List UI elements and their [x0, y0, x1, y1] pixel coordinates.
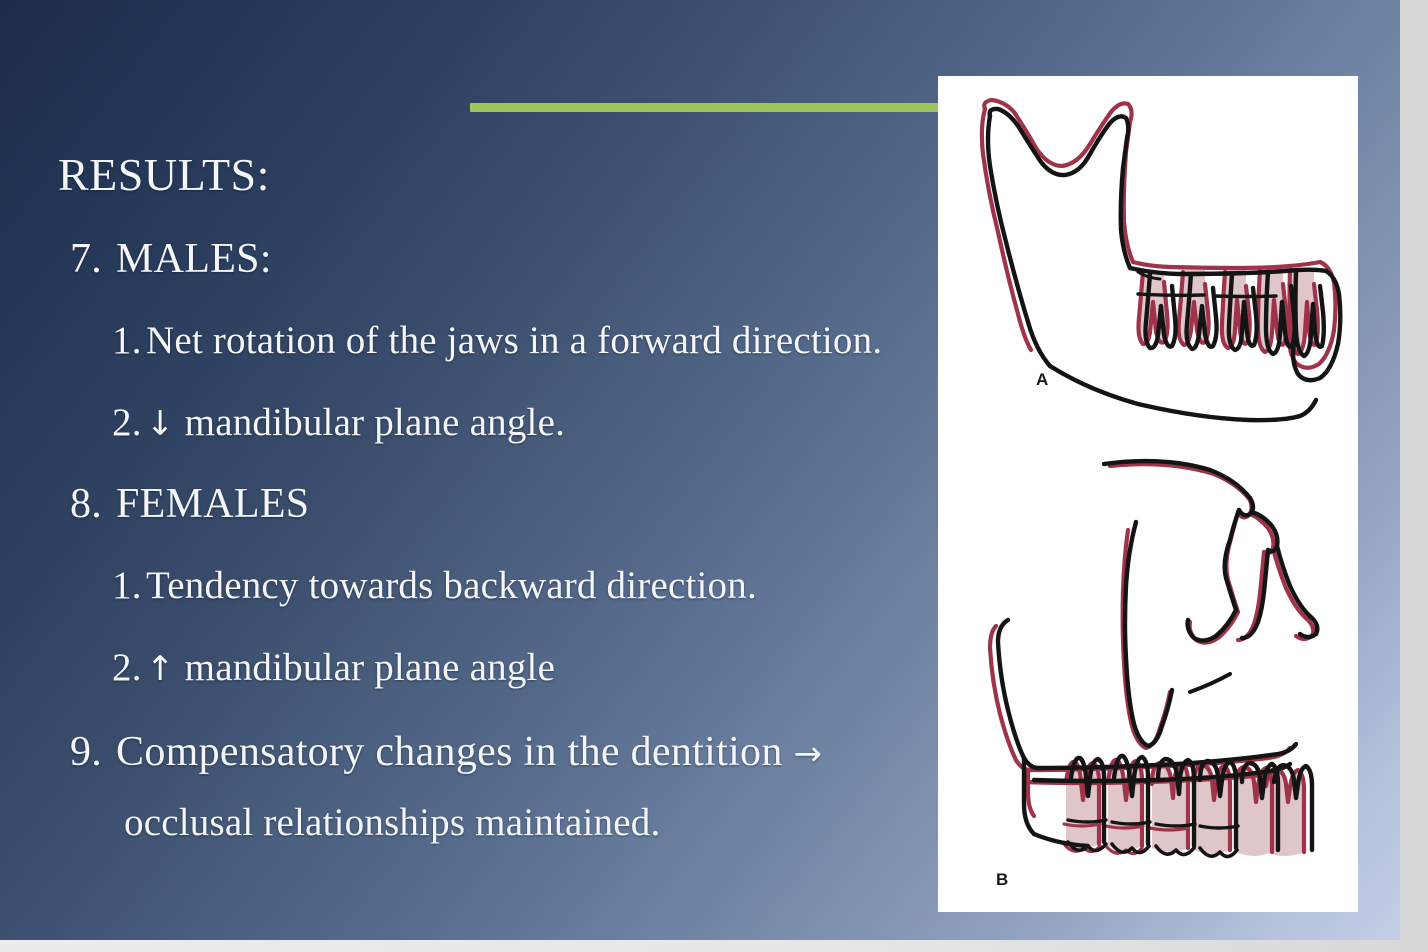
mandible-tracing-svg	[938, 82, 1358, 452]
title-block: FACIAL GROWTH IN ADULTS	[0, 0, 1400, 10]
figure-b-maxilla-tracing: B	[938, 452, 1358, 907]
list-item-label: mandibular plane angle.	[185, 401, 565, 444]
arrow-down-icon: ↓	[146, 404, 175, 444]
list-item-label: FEMALES	[116, 481, 309, 527]
list-item-females-sub-2: 2.↑ mandibular plane angle	[112, 645, 555, 690]
figure-label-a: A	[1036, 370, 1048, 390]
figure-panel: A	[938, 76, 1358, 912]
list-number: 9.	[70, 728, 116, 776]
list-item-label: Compensatory changes in the dentition	[116, 729, 783, 775]
list-number: 2.	[112, 400, 146, 445]
list-number: 2.	[112, 645, 146, 690]
list-item-males-sub-1: 1.Net rotation of the jaws in a forward …	[112, 318, 882, 363]
figure-label-b: B	[996, 870, 1008, 890]
list-number: 8.	[70, 480, 116, 528]
list-item-compensatory: 9.Compensatory changes in the dentition …	[70, 728, 822, 776]
maxilla-tracing-svg	[938, 452, 1358, 907]
page-title: FACIAL GROWTH IN ADULTS	[0, 0, 1400, 10]
list-number: 1.	[112, 318, 146, 363]
list-item-label: mandibular plane angle	[185, 646, 555, 689]
title-accent-rule	[470, 103, 1008, 112]
list-item-females: 8.FEMALES	[70, 480, 309, 528]
list-item-label: Net rotation of the jaws in a forward di…	[146, 319, 882, 362]
list-item-males-sub-2: 2.↓ mandibular plane angle.	[112, 400, 565, 445]
presentation-slide: FACIAL GROWTH IN ADULTS RESULTS: 7.MALES…	[0, 0, 1400, 940]
list-item-compensatory-continuation: occlusal relationships maintained.	[124, 800, 660, 845]
list-number: 1.	[112, 563, 146, 608]
list-item-males: 7.MALES:	[70, 235, 272, 283]
list-item-label: MALES:	[116, 236, 272, 282]
list-item-label: Tendency towards backward direction.	[146, 564, 757, 607]
arrow-up-icon: ↑	[146, 649, 175, 689]
slide-page: FACIAL GROWTH IN ADULTS RESULTS: 7.MALES…	[0, 0, 1428, 952]
figure-a-mandible-tracing: A	[938, 82, 1358, 452]
results-heading: RESULTS:	[58, 148, 270, 201]
arrow-right-icon: →	[793, 734, 822, 774]
list-item-females-sub-1: 1.Tendency towards backward direction.	[112, 563, 757, 608]
list-number: 7.	[70, 235, 116, 283]
